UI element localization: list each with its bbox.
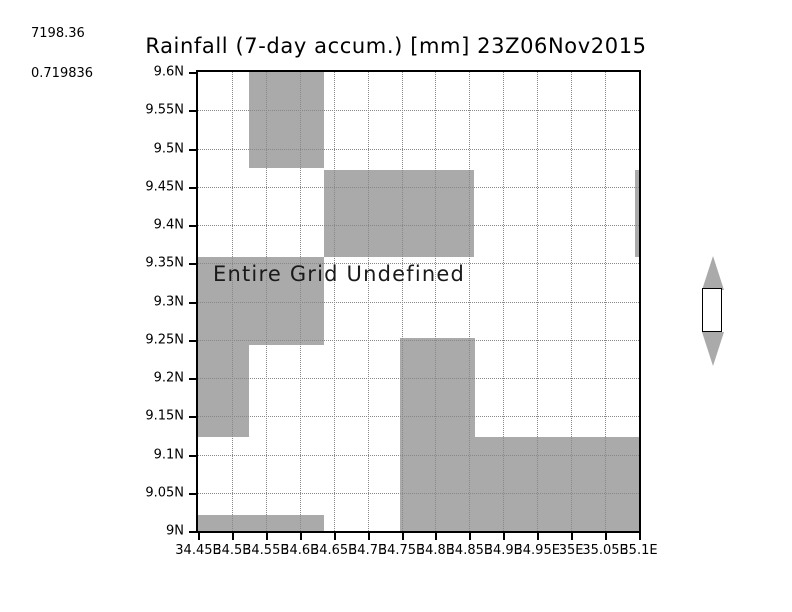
x-axis-tick: [605, 533, 607, 540]
undefined-region: [400, 338, 475, 437]
grid-line-horizontal: [198, 302, 639, 303]
grid-line-horizontal: [198, 455, 639, 456]
grid-line-horizontal: [198, 110, 639, 111]
y-axis-label: 9.05N: [145, 485, 184, 500]
x-axis-tick: [232, 533, 234, 540]
x-axis-tick: [503, 533, 505, 540]
undefined-region: [635, 437, 641, 533]
grid-line-horizontal: [198, 225, 639, 226]
undefined-region: [198, 345, 249, 437]
x-axis-tick: [469, 533, 471, 540]
colorbar-top-triangle-icon: [702, 256, 724, 290]
y-axis-tick: [189, 531, 196, 533]
grid-line-horizontal: [198, 149, 639, 150]
y-axis-tick: [189, 455, 196, 457]
colorbar-bottom-triangle-icon: [702, 332, 724, 366]
grid-line-horizontal: [198, 378, 639, 379]
undefined-region: [198, 515, 324, 533]
grid-line-horizontal: [198, 187, 639, 188]
y-axis-tick: [189, 378, 196, 380]
y-axis-label: 9.1N: [154, 447, 184, 462]
x-axis-tick: [198, 533, 200, 540]
y-axis-label: 9.3N: [154, 294, 184, 309]
x-axis-tick: [537, 533, 539, 540]
y-axis-tick: [189, 493, 196, 495]
y-axis-tick: [189, 263, 196, 265]
plot-area: [196, 70, 641, 533]
y-axis-label: 9.15N: [145, 409, 184, 424]
grid-undefined-annotation: Entire Grid Undefined: [213, 262, 465, 286]
x-axis-label: 34.95E: [515, 543, 560, 558]
y-axis-tick: [189, 110, 196, 112]
y-axis-tick: [189, 72, 196, 74]
undefined-region: [249, 72, 324, 168]
y-axis-tick: [189, 416, 196, 418]
y-axis-tick: [189, 225, 196, 227]
x-axis-tick: [368, 533, 370, 540]
x-axis-label: 35E: [559, 543, 584, 558]
x-axis-tick: [334, 533, 336, 540]
colorbar-box: [702, 288, 722, 332]
y-axis-label: 9N: [166, 524, 184, 539]
grid-line-horizontal: [198, 340, 639, 341]
x-axis-tick: [639, 533, 641, 540]
grid-line-horizontal: [198, 493, 639, 494]
undefined-region: [635, 170, 641, 257]
y-axis-tick: [189, 302, 196, 304]
y-axis-tick: [189, 340, 196, 342]
undefined-region: [324, 170, 474, 257]
y-axis-label: 9.5N: [154, 141, 184, 156]
y-axis-label: 9.45N: [145, 179, 184, 194]
y-axis-label: 9.35N: [145, 256, 184, 271]
y-axis-label: 9.6N: [154, 65, 184, 80]
y-axis-label: 9.55N: [145, 103, 184, 118]
y-axis-label: 9.2N: [154, 371, 184, 386]
x-axis-tick: [435, 533, 437, 540]
y-axis-tick: [189, 187, 196, 189]
y-axis-tick: [189, 149, 196, 151]
x-axis-tick: [266, 533, 268, 540]
colorbar-min-label: 0.719836: [31, 66, 93, 81]
y-axis-label: 9.25N: [145, 332, 184, 347]
x-axis-tick: [402, 533, 404, 540]
colorbar-legend: [698, 256, 728, 366]
x-axis-tick: [571, 533, 573, 540]
y-axis-label: 9.4N: [154, 218, 184, 233]
x-axis-tick: [300, 533, 302, 540]
grid-line-horizontal: [198, 416, 639, 417]
page-title: Rainfall (7-day accum.) [mm] 23Z06Nov201…: [0, 34, 792, 58]
colorbar-max-label: 7198.36: [31, 26, 85, 41]
grads-rainfall-figure: Rainfall (7-day accum.) [mm] 23Z06Nov201…: [0, 0, 792, 612]
x-axis-label: 35.1E: [620, 543, 657, 558]
